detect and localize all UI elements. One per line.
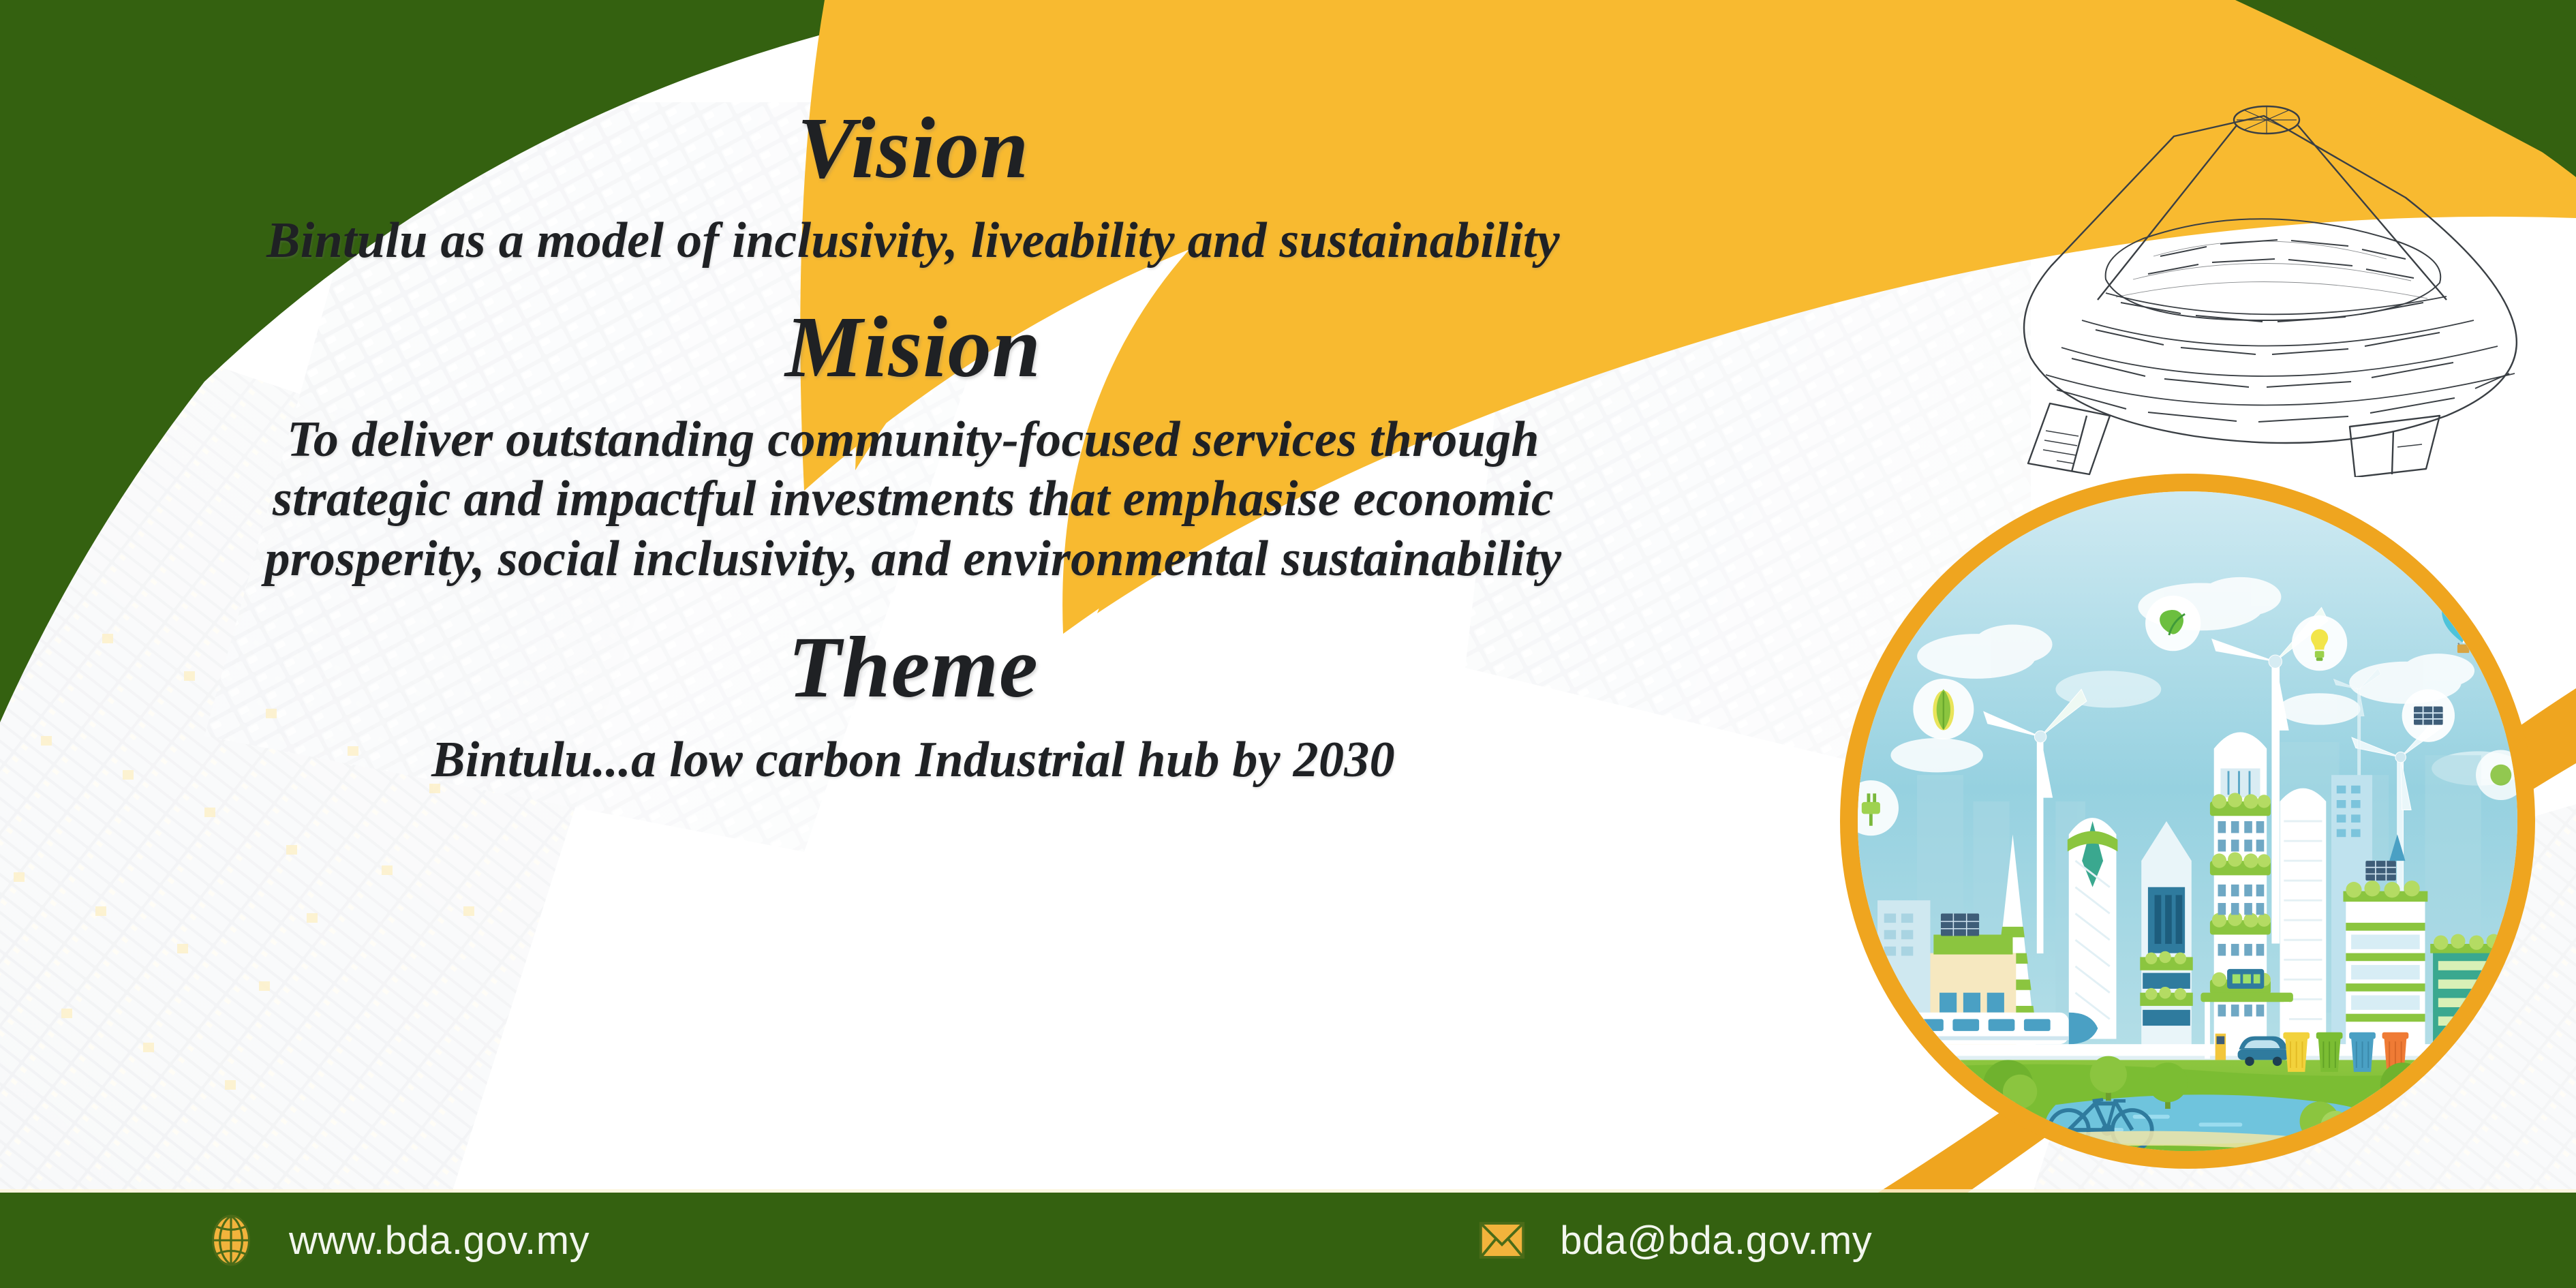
vision-body: Bintulu as a model of inclusivity, livea…: [0, 211, 1826, 271]
mission-section: Mision To deliver outstanding community-…: [0, 301, 1826, 589]
footer-bar: www.bda.gov.my bda@bda.gov.my: [0, 1193, 2576, 1288]
mission-body-line-1: To deliver outstanding community-focused…: [0, 410, 1826, 470]
spire-tower: [2140, 821, 2192, 1045]
mission-body-line-3: prosperity, social inclusivity, and envi…: [0, 530, 1826, 589]
eco-city-circle: [1840, 474, 2535, 1169]
vision-section: Vision Bintulu as a model of inclusivity…: [0, 102, 1826, 271]
website-label: www.bda.gov.my: [289, 1218, 589, 1263]
theme-section: Theme Bintulu...a low carbon Industrial …: [0, 622, 1826, 791]
conical-dome-building-icon: [1969, 95, 2569, 477]
mission-heading: Mision: [0, 301, 1826, 393]
circle-ring-border: [1840, 474, 2535, 1169]
leaf-tower: [2068, 818, 2118, 1039]
vision-heading: Vision: [0, 102, 1826, 194]
email-label: bda@bda.gov.my: [1560, 1218, 1872, 1263]
mission-body-line-2: strategic and impactful investments that…: [0, 470, 1826, 529]
banner-canvas: Vision Bintulu as a model of inclusivity…: [0, 0, 2576, 1288]
theme-heading: Theme: [0, 622, 1826, 713]
globe-icon: [204, 1214, 258, 1267]
footer-website[interactable]: www.bda.gov.my: [204, 1214, 589, 1267]
footer-email[interactable]: bda@bda.gov.my: [1475, 1214, 1872, 1267]
envelope-icon: [1475, 1214, 1529, 1267]
theme-body: Bintulu...a low carbon Industrial hub by…: [0, 731, 1826, 790]
statement-block: Vision Bintulu as a model of inclusivity…: [0, 102, 1826, 800]
eco-green-city-illustration: [1858, 491, 2517, 1151]
